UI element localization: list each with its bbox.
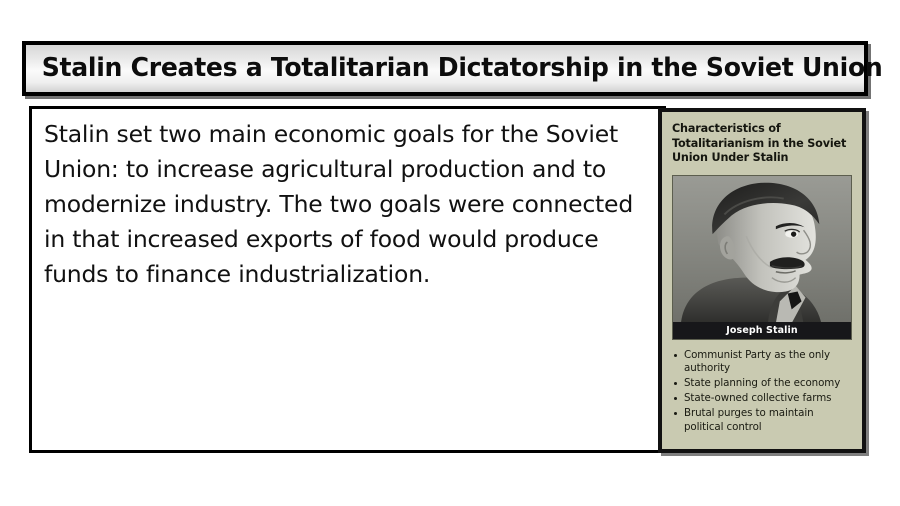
list-item: State-owned collective farms xyxy=(673,392,853,405)
slide-canvas: Stalin Creates a Totalitarian Dictatorsh… xyxy=(0,0,900,506)
stalin-portrait-icon xyxy=(673,176,851,322)
portrait-figure: Joseph Stalin xyxy=(672,175,852,340)
info-panel-heading: Characteristics of Totalitarianism in th… xyxy=(672,122,852,166)
list-item: State planning of the economy xyxy=(673,377,853,390)
body-paragraph: Stalin set two main economic goals for t… xyxy=(44,117,654,292)
info-panel: Characteristics of Totalitarianism in th… xyxy=(658,108,866,453)
page-title: Stalin Creates a Totalitarian Dictatorsh… xyxy=(26,56,882,82)
characteristics-list: Communist Party as the only authority St… xyxy=(673,349,853,434)
photo-caption: Joseph Stalin xyxy=(673,322,851,339)
slide-title-bar: Stalin Creates a Totalitarian Dictatorsh… xyxy=(22,41,868,96)
list-item: Brutal purges to maintain political cont… xyxy=(673,407,853,433)
list-item: Communist Party as the only authority xyxy=(673,349,853,375)
content-box: Stalin set two main economic goals for t… xyxy=(29,106,666,453)
